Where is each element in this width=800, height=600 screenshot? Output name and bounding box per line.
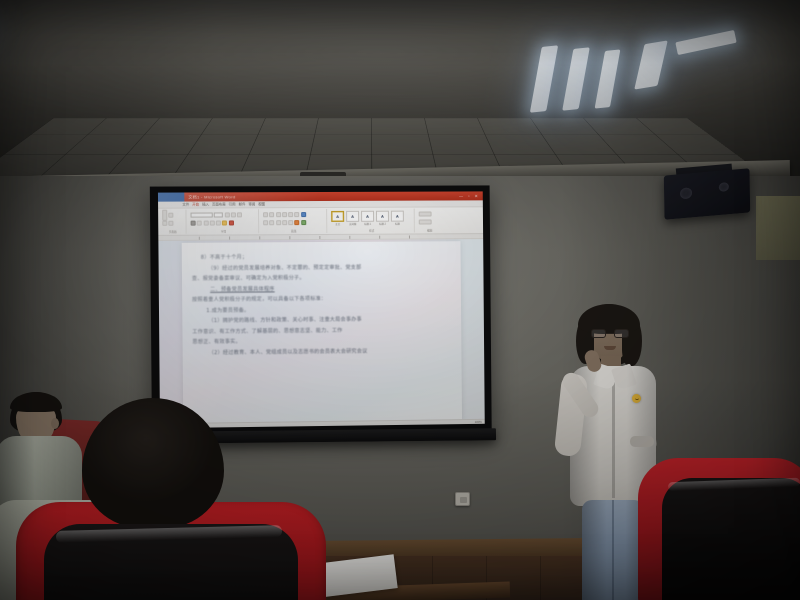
tab-view[interactable]: 视图 [258, 201, 265, 208]
ribbon-group-paragraph[interactable]: 段落 [261, 209, 327, 233]
font-size-input[interactable] [214, 212, 223, 217]
attendee-left-ear [51, 418, 59, 429]
style-chip-heading-2[interactable]: A [376, 210, 389, 221]
increase-indent-icon[interactable] [288, 212, 293, 217]
grow-font-icon[interactable] [224, 212, 229, 217]
word-file-menu-icon[interactable] [158, 193, 184, 202]
window-controls[interactable]: — ▫ ✕ [459, 193, 480, 198]
attendee-foreground-head [82, 398, 224, 528]
tab-review[interactable]: 审阅 [248, 201, 255, 208]
decrease-indent-icon[interactable] [282, 212, 287, 217]
style-label-no-spacing: 无间隔 [346, 222, 359, 225]
sort-icon[interactable] [295, 212, 300, 217]
format-painter-icon[interactable] [169, 220, 174, 225]
ribbon-group-clipboard[interactable]: 剪贴板 [160, 210, 187, 234]
ribbon-group-font[interactable]: 字体 [188, 209, 259, 233]
attendee-left-fringe [10, 392, 62, 412]
subscript-icon[interactable] [216, 220, 221, 225]
presenter-jeans [582, 500, 644, 600]
document-canvas[interactable]: 8）不高于十个月； （9）经过的党员发展培养对象、不定罪的、预定定审批、党支部 … [158, 239, 484, 423]
tab-mailings[interactable]: 邮件 [238, 201, 245, 208]
line-spacing-icon[interactable] [288, 220, 293, 225]
bold-icon[interactable] [191, 220, 196, 225]
strikethrough-icon[interactable] [210, 220, 215, 225]
find-icon[interactable] [419, 211, 432, 216]
underline-icon[interactable] [203, 220, 208, 225]
document-page[interactable]: 8）不高于十个月； （9）经过的党员发展培养对象、不定罪的、预定定审批、党支部 … [181, 241, 462, 423]
ribbon[interactable]: 剪贴板 [158, 207, 483, 236]
tab-file[interactable]: 文件 [182, 201, 189, 208]
text-highlight-icon[interactable] [222, 220, 227, 225]
tab-home[interactable]: 开始 [192, 201, 199, 208]
status-zoom[interactable]: 100% [475, 419, 482, 424]
wall-panel-right [756, 196, 800, 260]
style-chip-heading-1[interactable]: A [361, 210, 374, 221]
style-chip-normal[interactable]: A [331, 210, 344, 221]
font-color-icon[interactable] [229, 220, 234, 225]
justify-icon[interactable] [282, 220, 287, 225]
clear-formatting-icon[interactable] [237, 212, 242, 217]
speaker-cone [680, 187, 692, 199]
font-name-input[interactable] [191, 212, 213, 217]
tab-references[interactable]: 引用 [229, 201, 236, 208]
bullets-icon[interactable] [263, 212, 268, 217]
tab-insert[interactable]: 插入 [202, 201, 209, 208]
style-chip-no-spacing[interactable]: A [346, 210, 359, 221]
projection-surface: 文档1 - Microsoft Word — ▫ ✕ 文件 开始 插入 页面布局… [158, 191, 485, 428]
show-marks-icon[interactable] [301, 212, 306, 217]
attendee-foreground [62, 398, 342, 600]
group-label-font: 字体 [189, 230, 259, 233]
chair-right-seatback [662, 478, 800, 600]
word-window: 文档1 - Microsoft Word — ▫ ✕ 文件 开始 插入 页面布局… [158, 191, 485, 428]
align-right-icon[interactable] [276, 220, 281, 225]
blouse-cuff [630, 436, 654, 447]
align-left-icon[interactable] [263, 220, 268, 225]
ribbon-group-editing[interactable]: 编辑 [417, 208, 443, 232]
shading-icon[interactable] [295, 220, 300, 225]
group-label-clipboard: 剪贴板 [160, 231, 185, 234]
style-label-heading-2: 标题 2 [376, 222, 389, 225]
ribbon-group-styles[interactable]: A A A A A 正文 无间隔 标题 1 标题 2 标题 [329, 209, 415, 233]
cut-icon[interactable] [169, 212, 174, 217]
group-label-styles: 样式 [329, 230, 414, 233]
wall-speaker-icon [664, 168, 750, 220]
replace-icon[interactable] [419, 219, 432, 224]
italic-icon[interactable] [197, 220, 202, 225]
tab-page-layout[interactable]: 页面布局 [212, 201, 226, 208]
shrink-font-icon[interactable] [231, 212, 236, 217]
numbering-icon[interactable] [269, 212, 274, 217]
style-label-heading-1: 标题 1 [361, 222, 374, 225]
jeans-shading [582, 500, 644, 600]
wall-outlet-icon[interactable] [455, 492, 470, 506]
photo-scene: 文档1 - Microsoft Word — ▫ ✕ 文件 开始 插入 页面布局… [0, 0, 800, 600]
copy-icon[interactable] [162, 220, 167, 225]
group-label-editing: 编辑 [417, 229, 443, 232]
doc-line: （2）经过教育、本人、党组成员以及志愿书的会员表大会研究会议 [192, 345, 452, 358]
multilevel-list-icon[interactable] [276, 212, 281, 217]
speaker-cone [719, 182, 729, 192]
glasses-icon [591, 329, 629, 338]
style-chip-title[interactable]: A [391, 210, 404, 221]
group-label-paragraph: 段落 [261, 230, 326, 233]
style-label-normal: 正文 [331, 222, 344, 225]
borders-icon[interactable] [301, 220, 306, 225]
align-center-icon[interactable] [269, 220, 274, 225]
style-label-title: 标题 [391, 222, 404, 225]
